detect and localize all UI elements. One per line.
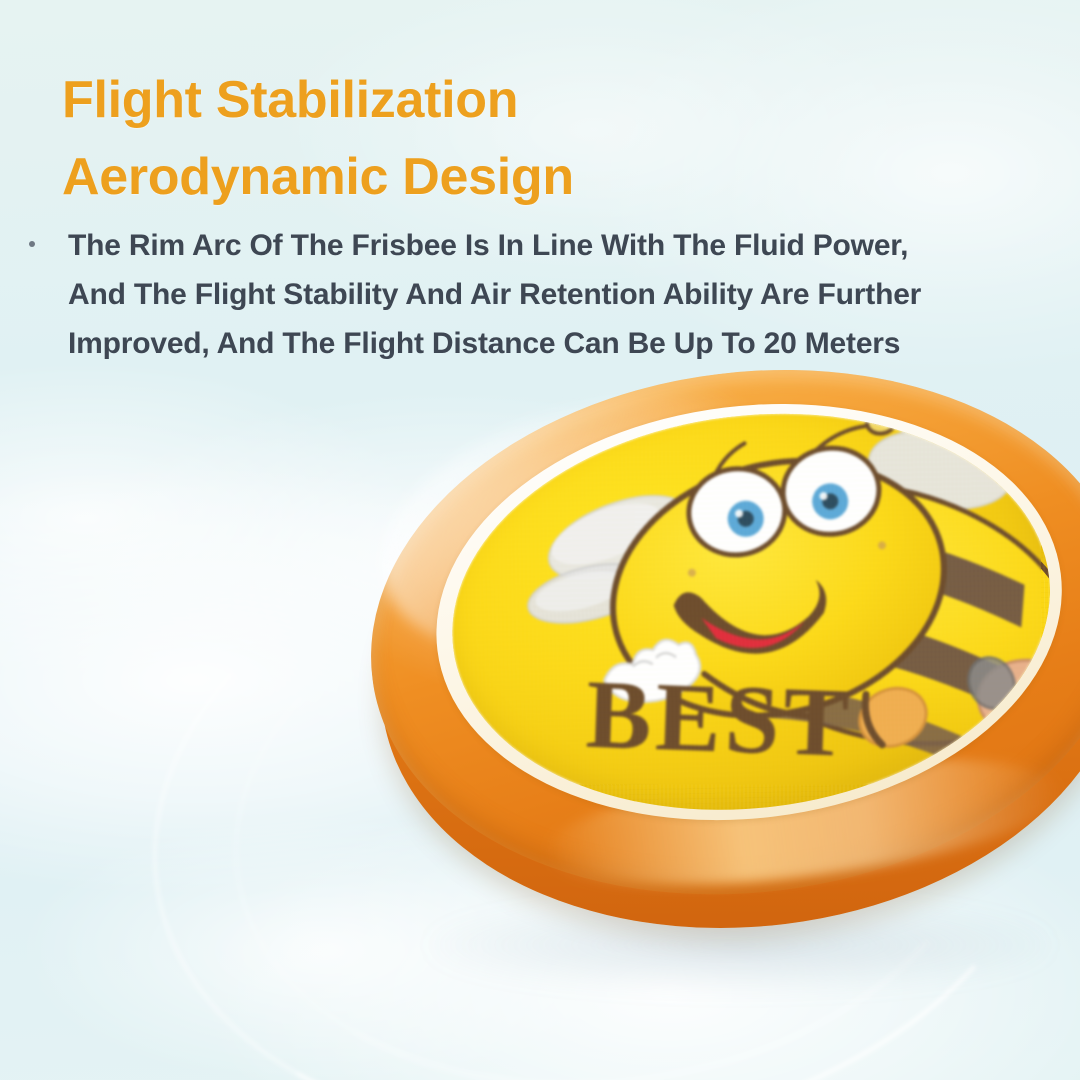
antenna-right-tip — [866, 410, 896, 435]
print-text-best-label: BEST — [584, 661, 854, 778]
page-headline: Flight Stabilization Aerodynamic Design — [62, 62, 942, 216]
print-text-best: BEST — [584, 661, 854, 778]
frisbee-product-photo: BEST — [341, 328, 1080, 976]
bullet-dot-icon — [29, 241, 35, 247]
banner-canvas: Flight Stabilization Aerodynamic Design … — [0, 0, 1080, 1080]
bee-mascot-artwork: BEST — [429, 381, 1072, 843]
disc-printed-face: BEST — [429, 381, 1072, 843]
feature-description: The Rim Arc Of The Frisbee Is In Line Wi… — [68, 222, 998, 369]
